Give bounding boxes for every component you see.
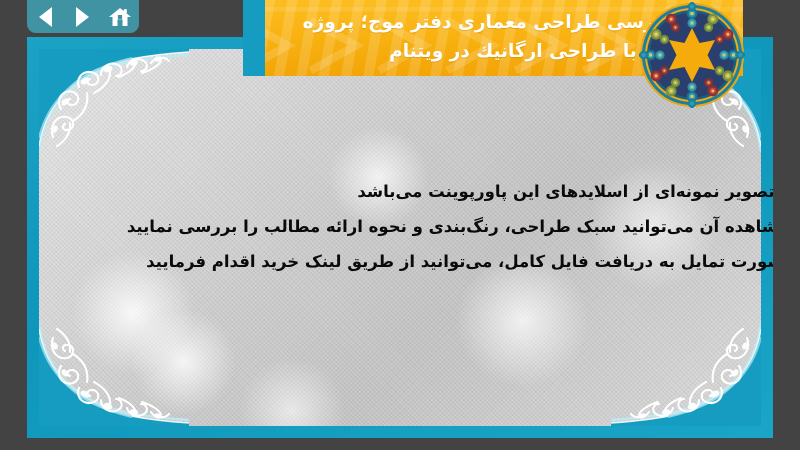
slide-body-text: این تصویر نمونه‌ای از اسلایدهای این پاور… xyxy=(87,175,773,280)
triangle-left-icon xyxy=(39,7,52,27)
banner-body: بررسی طراحی معماری دفتر موج؛ پروژه HA با… xyxy=(265,0,743,76)
banner-teal-cap xyxy=(243,0,265,76)
previous-slide-button[interactable] xyxy=(31,4,61,30)
title-line-2: HA با طراحی ارگانیك در ویتنام xyxy=(389,37,673,66)
slide-canvas: این تصویر نمونه‌ای از اسلایدهای این پاور… xyxy=(27,37,773,438)
slide-title-banner: بررسی طراحی معماری دفتر موج؛ پروژه HA با… xyxy=(243,0,743,76)
slide-navigation-bar xyxy=(27,0,139,33)
title-line-1: بررسی طراحی معماری دفتر موج؛ پروژه xyxy=(303,8,673,37)
body-line-2: با مشاهده آن می‌توانید سبک طراحی، رنگ‌بن… xyxy=(87,210,773,245)
triangle-right-icon xyxy=(76,7,89,27)
body-line-3: در صورت تمایل به دریافت فایل کامل، می‌تو… xyxy=(87,245,773,280)
home-icon xyxy=(108,6,132,28)
body-line-1: این تصویر نمونه‌ای از اسلایدهای این پاور… xyxy=(87,175,773,210)
presentation-viewer: این تصویر نمونه‌ای از اسلایدهای این پاور… xyxy=(0,0,800,450)
next-slide-button[interactable] xyxy=(68,4,98,30)
home-button[interactable] xyxy=(105,4,135,30)
